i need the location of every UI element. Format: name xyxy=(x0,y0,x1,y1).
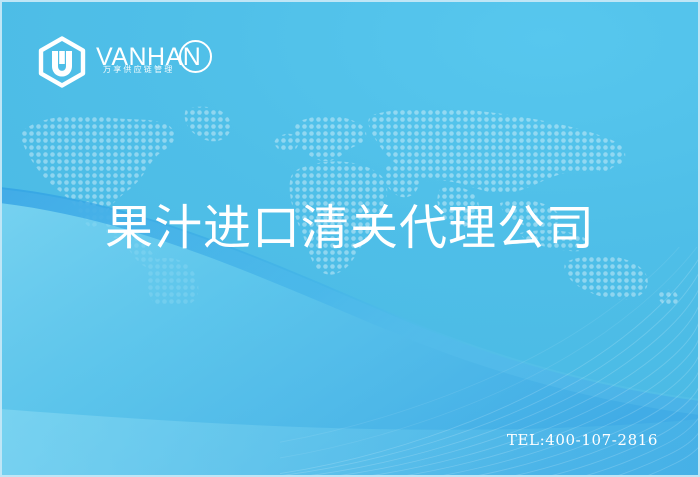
hexagon-u-logo-icon xyxy=(36,36,88,88)
page-title: 果汁进口清关代理公司 xyxy=(0,202,700,256)
wordmark-g-circle-icon xyxy=(179,40,212,73)
promo-banner: VANHAN 万享供应链管理 果汁进口清关代理公司 TEL:400-107-28… xyxy=(0,0,700,477)
contact-phone: TEL:400-107-2816 xyxy=(507,431,658,449)
brand-logo[interactable]: VANHAN 万享供应链管理 xyxy=(36,36,96,88)
wordmark-subtitle: 万享供应链管理 xyxy=(103,66,174,74)
